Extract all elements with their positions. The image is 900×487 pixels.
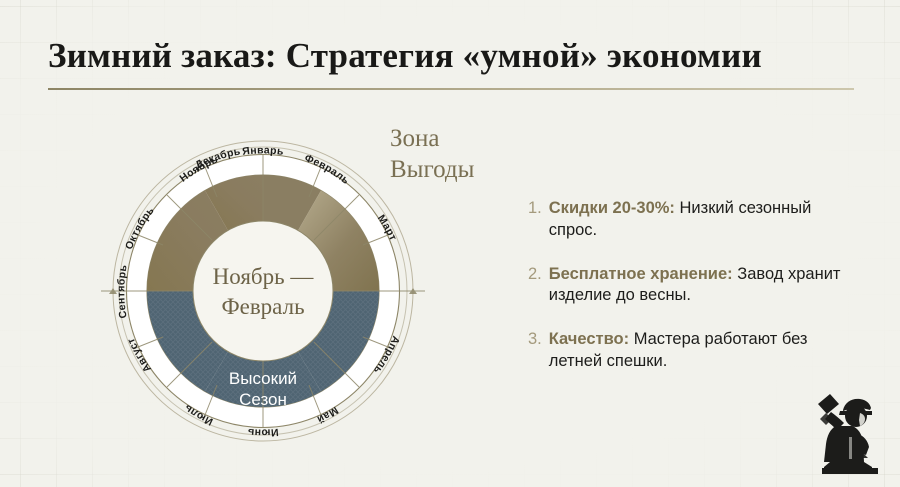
- season-wheel-svg: Ноябрь — Февраль Высокий Сезон Январь Фе…: [83, 112, 443, 470]
- benefit-item-1: 1. Скидки 20-30%: Низкий сезонный спрос.: [528, 198, 858, 242]
- benefit-body-2: Бесплатное хранение: Завод хранит издели…: [549, 264, 858, 308]
- page-title: Зимний заказ: Стратегия «умной» экономии: [48, 38, 860, 73]
- title-divider: [48, 88, 854, 90]
- wheel-hub: [193, 221, 333, 361]
- hub-label-line2: Февраль: [221, 294, 304, 319]
- high-season-label-line1: Высокий: [229, 369, 297, 388]
- benefit-body-3: Качество: Мастера работают без летней сп…: [549, 329, 858, 373]
- benefit-number-2: 2.: [528, 264, 542, 308]
- season-wheel-diagram: Ноябрь — Февраль Высокий Сезон Январь Фе…: [83, 112, 443, 470]
- month-label-january-text: Январь: [242, 144, 285, 158]
- benefits-list: 1. Скидки 20-30%: Низкий сезонный спрос.…: [528, 198, 858, 395]
- month-label-june-text: Июнь: [247, 426, 279, 439]
- benefit-zone-caption: Зона Выгоды: [390, 124, 474, 185]
- benefit-heading-1: Скидки 20-30%:: [549, 199, 675, 217]
- benefit-number-3: 3.: [528, 329, 542, 373]
- benefit-heading-2: Бесплатное хранение:: [549, 265, 733, 283]
- high-season-label-line2: Сезон: [239, 390, 287, 409]
- slide-header: Зимний заказ: Стратегия «умной» экономии: [48, 38, 860, 90]
- blacksmith-logo: [806, 382, 890, 478]
- hub-label-line1: Ноябрь —: [213, 264, 315, 289]
- month-label-january: Январь: [242, 144, 285, 158]
- benefit-body-1: Скидки 20-30%: Низкий сезонный спрос.: [549, 198, 858, 242]
- benefit-heading-3: Качество:: [549, 330, 629, 348]
- benefit-zone-caption-line2: Выгоды: [390, 155, 474, 186]
- benefit-zone-caption-line1: Зона: [390, 124, 474, 155]
- benefit-item-2: 2. Бесплатное хранение: Завод хранит изд…: [528, 264, 858, 308]
- slide-canvas: Зимний заказ: Стратегия «умной» экономии: [0, 0, 900, 487]
- benefit-number-1: 1.: [528, 198, 542, 242]
- benefit-item-3: 3. Качество: Мастера работают без летней…: [528, 329, 858, 373]
- month-label-june: Июнь: [247, 426, 279, 439]
- blacksmith-icon: [806, 382, 890, 478]
